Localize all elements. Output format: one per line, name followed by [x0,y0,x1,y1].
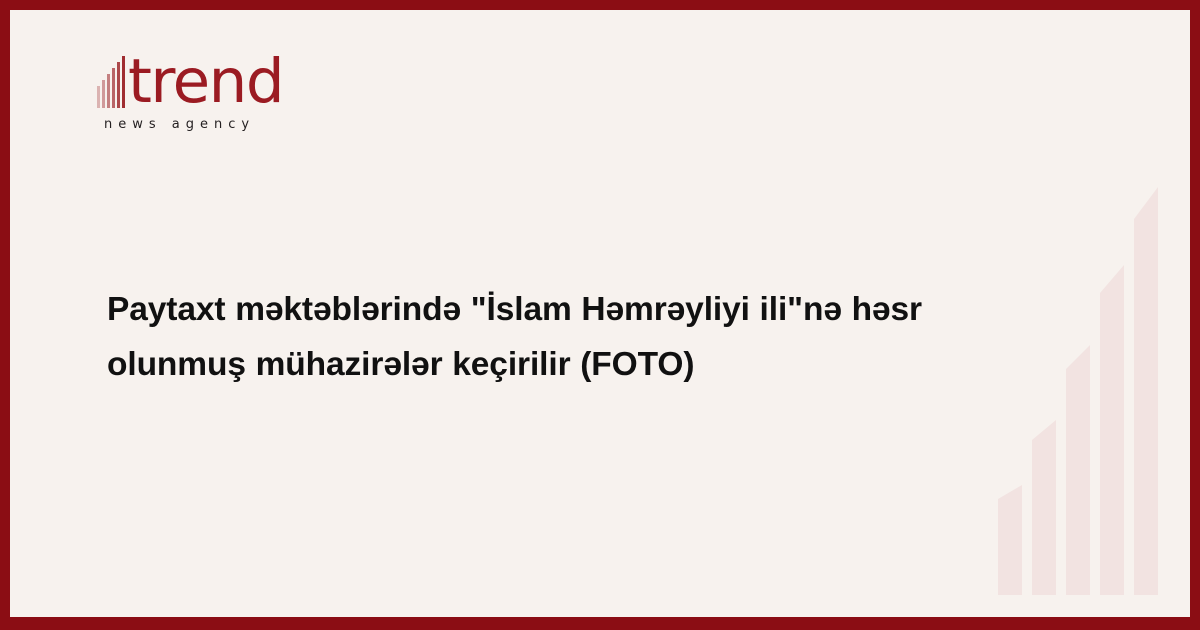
decoration-bar [1032,420,1056,595]
social-share-card: trend news agency Paytaxt məktəblərində … [0,0,1200,630]
article-headline: Paytaxt məktəblərində "İslam Həmrəyliyi … [107,282,1002,392]
card-canvas: trend news agency Paytaxt məktəblərində … [10,10,1190,617]
decoration-bar [1134,187,1158,595]
decoration-bar [998,485,1022,595]
logo-bar [102,80,105,108]
decoration-bar [1066,345,1090,595]
logo-bar [112,68,115,108]
logo-bar [97,86,100,108]
decoration-bar [1100,265,1124,595]
brand-wordmark: trend [128,54,283,110]
ascending-bars-decoration [998,10,1168,617]
logo-mark-row: trend [97,48,357,110]
logo-bar [117,62,120,108]
logo-bar [107,74,110,108]
logo-bar [122,56,125,108]
brand-logo[interactable]: trend news agency [97,48,357,132]
brand-tagline: news agency [104,117,357,132]
ascending-bars-icon [97,54,127,110]
